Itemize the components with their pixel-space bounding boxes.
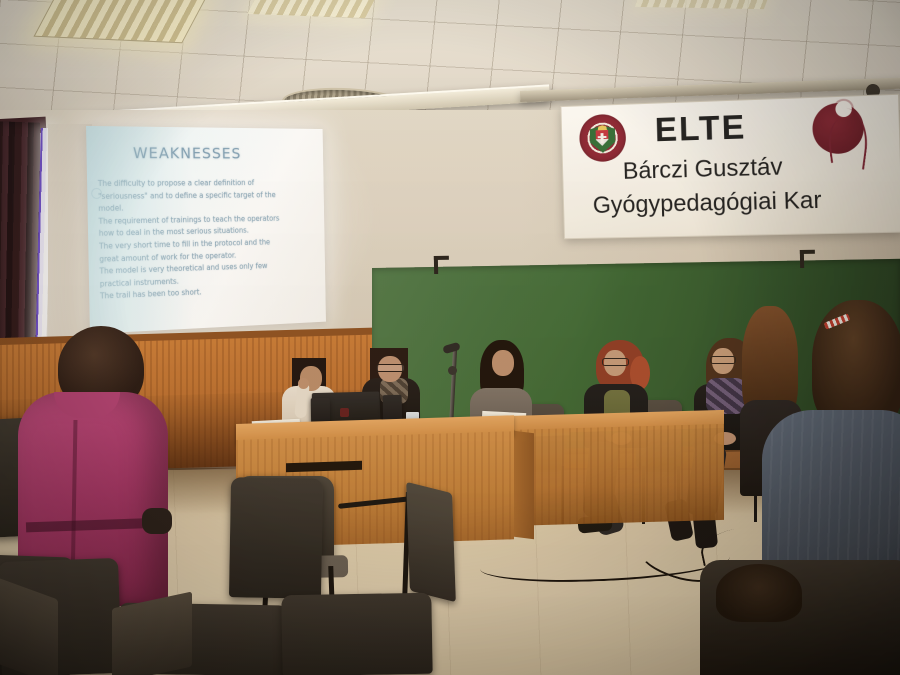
- projection-screen: WEAKNESSES The difficulty to propose a c…: [86, 126, 326, 334]
- banner-title: ELTE: [654, 108, 746, 150]
- panelist-4-glasses-icon: [602, 358, 629, 366]
- banner-subtitle-2: Gyógypedagógiai Kar: [593, 187, 822, 220]
- audience-chair: [281, 593, 432, 675]
- panelist-1-hand: [298, 378, 309, 389]
- slide-title: WEAKNESSES: [133, 144, 242, 162]
- audience-front-right-head: [716, 564, 802, 622]
- panelist-5-glasses-icon: [710, 356, 736, 364]
- audience-left-hand: [142, 508, 172, 534]
- slide-body: The difficulty to propose a clear defini…: [98, 177, 318, 303]
- microphone-stand-joint: [448, 366, 457, 375]
- lecture-chair-with-tablet-arm: [406, 482, 456, 603]
- panelist-2-glasses-icon: [376, 364, 405, 372]
- conference-room-photo: WEAKNESSES The difficulty to propose a c…: [0, 0, 900, 675]
- elte-banner: ELTE Bárczi Gusztáv Gyógypedagógiai Kar: [560, 94, 900, 240]
- wall-strip-left: [48, 124, 92, 362]
- laptop-logo-icon: [340, 408, 349, 417]
- chalkboard-hook-icon: [434, 256, 438, 274]
- dark-window-curtain: [0, 121, 40, 363]
- panelist-5-scarf: [706, 378, 746, 414]
- banner-subtitle-1: Bárczi Gusztáv: [622, 153, 782, 185]
- fluorescent-panel-light-icon: [33, 0, 206, 43]
- seal-cross-bar-icon: [598, 136, 607, 138]
- panelist-3-face: [492, 350, 514, 376]
- chalkboard-hook-icon: [800, 250, 804, 268]
- audience-chair: [229, 477, 323, 599]
- panel-table-extension-front: [506, 424, 724, 526]
